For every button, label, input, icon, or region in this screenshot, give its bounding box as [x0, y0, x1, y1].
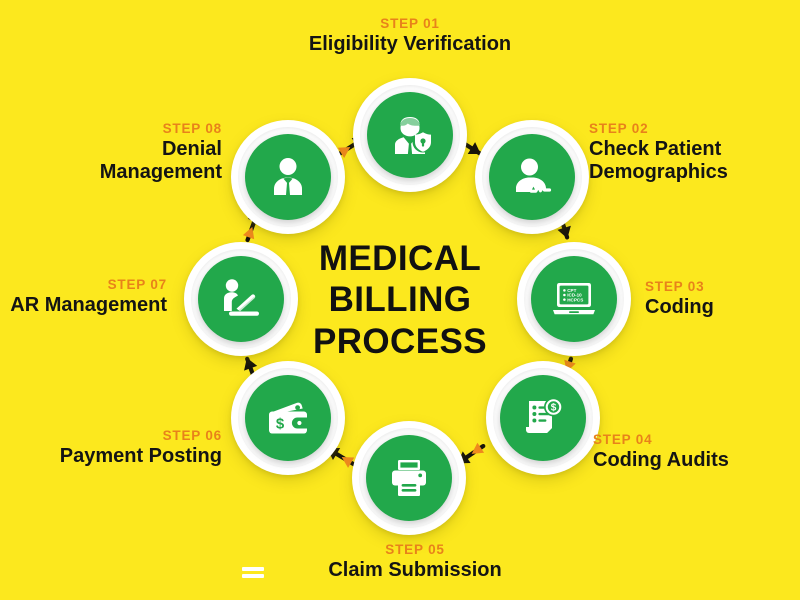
step-title-06: Payment Posting	[20, 445, 222, 468]
node-disc	[489, 134, 575, 220]
center-title: MEDICAL BILLING PROCESS	[270, 238, 530, 362]
step-title-01: Eligibility Verification	[260, 33, 560, 56]
node-disc	[245, 134, 331, 220]
center-title-line-2: BILLING	[270, 279, 530, 320]
step-title-02: Check Patient Demographics	[589, 138, 799, 184]
step-number-07: STEP 07	[2, 277, 167, 292]
printer-icon	[384, 453, 434, 503]
center-title-line-3: PROCESS	[270, 321, 530, 362]
bottom-equals-mark	[242, 567, 264, 578]
step-title-07: AR Management	[2, 294, 167, 317]
node-disc	[366, 435, 452, 521]
step-label-02: STEP 02 Check Patient Demographics	[589, 121, 799, 184]
step-node-04[interactable]: $	[486, 361, 600, 475]
step-number-03: STEP 03	[645, 279, 795, 294]
infographic-canvas: MEDICAL BILLING PROCESS	[0, 0, 800, 600]
step-node-08[interactable]	[231, 120, 345, 234]
step-node-05[interactable]	[352, 421, 466, 535]
doctor-shield-icon	[384, 109, 436, 161]
node-disc: $	[500, 375, 586, 461]
step-number-08: STEP 08	[26, 121, 222, 136]
step-number-02: STEP 02	[589, 121, 799, 136]
node-disc	[367, 92, 453, 178]
bottom-mark-bar	[242, 567, 264, 571]
step-label-01: STEP 01 Eligibility Verification	[260, 16, 560, 56]
svg-text:$: $	[551, 403, 557, 414]
node-disc: CPT ICD-10 HCPCS	[531, 256, 617, 342]
step-node-06[interactable]: $	[231, 361, 345, 475]
step-number-04: STEP 04	[593, 432, 798, 447]
patient-pulse-icon	[507, 152, 557, 202]
svg-text:$: $	[276, 416, 285, 433]
step-title-08: Denial Management	[26, 138, 222, 184]
invoice-dollar-icon: $	[518, 393, 568, 443]
step-node-03[interactable]: CPT ICD-10 HCPCS	[517, 242, 631, 356]
step-title-04: Coding Audits	[593, 449, 798, 472]
center-title-line-1: MEDICAL	[270, 238, 530, 279]
step-number-01: STEP 01	[260, 16, 560, 31]
node-disc: $	[245, 375, 331, 461]
step-label-05: STEP 05 Claim Submission	[265, 542, 565, 582]
wallet-dollar-icon: $	[262, 392, 314, 444]
businessperson-icon	[264, 153, 312, 201]
step-node-01[interactable]	[353, 78, 467, 192]
step-label-06: STEP 06 Payment Posting	[20, 428, 222, 468]
laptop-code-3: HCPCS	[567, 297, 583, 302]
step-number-06: STEP 06	[20, 428, 222, 443]
step-node-02[interactable]	[475, 120, 589, 234]
step-label-07: STEP 07 AR Management	[2, 277, 167, 317]
step-label-04: STEP 04 Coding Audits	[593, 432, 798, 472]
person-laptop-icon	[215, 273, 267, 325]
step-title-03: Coding	[645, 296, 795, 319]
step-number-05: STEP 05	[265, 542, 565, 557]
step-title-05: Claim Submission	[265, 559, 565, 582]
step-label-03: STEP 03 Coding	[645, 279, 795, 319]
laptop-codes-icon: CPT ICD-10 HCPCS	[547, 272, 601, 326]
step-label-08: STEP 08 Denial Management	[26, 121, 222, 184]
bottom-mark-bar	[242, 574, 264, 578]
